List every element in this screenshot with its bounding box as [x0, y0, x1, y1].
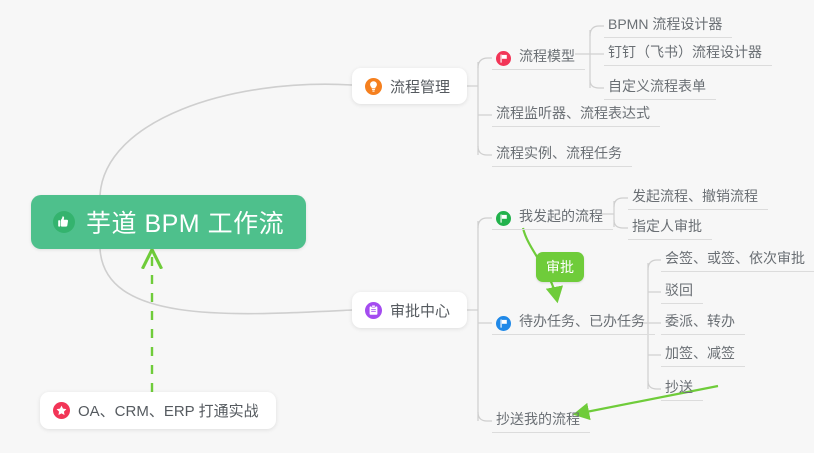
- node-my-started-flows[interactable]: 我发起的流程: [492, 200, 613, 230]
- node-custom-form[interactable]: 自定义流程表单: [604, 70, 716, 100]
- root-node[interactable]: 芋道 BPM 工作流: [31, 195, 306, 249]
- flag-icon: [496, 51, 511, 66]
- node-label-delegate-transfer: 委派、转办: [665, 311, 735, 331]
- footer-node-label: OA、CRM、ERP 打通实战: [78, 400, 259, 421]
- node-label-todo-done-tasks: 待办任务、已办任务: [519, 311, 645, 331]
- node-label-my-started-flows: 我发起的流程: [519, 206, 603, 226]
- connector-root-to-process-management: [100, 84, 352, 195]
- node-label-process-instance: 流程实例、流程任务: [496, 143, 622, 163]
- node-assignee-approval[interactable]: 指定人审批: [628, 210, 712, 240]
- connector-tasks-to-countersign: [648, 260, 661, 270]
- branch-label-approval-center: 审批中心: [390, 300, 450, 321]
- node-start-cancel-flow[interactable]: 发起流程、撤销流程: [628, 180, 768, 210]
- connector-tasks-to-cc: [648, 381, 661, 389]
- footer-node-integration[interactable]: OA、CRM、ERP 打通实战: [40, 392, 276, 429]
- node-label-custom-form: 自定义流程表单: [608, 76, 706, 96]
- connector-pm-to-instance: [478, 146, 492, 155]
- node-cc-my-flows[interactable]: 抄送我的流程: [492, 403, 590, 433]
- connector-mystarted-to-start: [614, 198, 628, 207]
- node-reject[interactable]: 驳回: [661, 274, 703, 304]
- node-add-remove-sign[interactable]: 加签、减签: [661, 337, 745, 367]
- connector-mystarted-to-assign: [614, 220, 628, 228]
- node-delegate-transfer[interactable]: 委派、转办: [661, 305, 745, 335]
- connector-model-to-customform: [590, 80, 604, 88]
- node-countersign[interactable]: 会签、或签、依次审批: [661, 242, 814, 272]
- connector-ac-to-mystarted: [478, 218, 492, 228]
- node-label-dingtalk-designer: 钉钉（飞书）流程设计器: [608, 42, 762, 62]
- node-label-add-remove-sign: 加签、减签: [665, 343, 735, 363]
- node-process-listener[interactable]: 流程监听器、流程表达式: [492, 97, 660, 127]
- flag-icon: [496, 316, 511, 331]
- connector-pm-to-model: [478, 58, 492, 68]
- lightbulb-icon: [365, 78, 382, 95]
- node-bpmn-designer[interactable]: BPMN 流程设计器: [604, 8, 732, 38]
- node-label-countersign: 会签、或签、依次审批: [665, 248, 805, 268]
- node-todo-done-tasks[interactable]: 待办任务、已办任务: [492, 305, 655, 335]
- approval-badge[interactable]: 审批: [536, 252, 584, 282]
- node-label-start-cancel-flow: 发起流程、撤销流程: [632, 186, 758, 206]
- node-process-model[interactable]: 流程模型: [492, 40, 585, 70]
- branch-label-process-management: 流程管理: [390, 76, 450, 97]
- branch-node-approval-center[interactable]: 审批中心: [352, 292, 467, 328]
- connector-model-to-bpmn: [590, 26, 604, 36]
- node-label-cc-my-flows: 抄送我的流程: [496, 409, 580, 429]
- node-label-reject: 驳回: [665, 280, 693, 300]
- mindmap-canvas: 芋道 BPM 工作流 流程管理 审批中心: [0, 0, 814, 453]
- root-label: 芋道 BPM 工作流: [86, 204, 284, 240]
- node-label-process-listener: 流程监听器、流程表达式: [496, 103, 650, 123]
- node-dingtalk-designer[interactable]: 钉钉（飞书）流程设计器: [604, 36, 772, 66]
- node-label-assignee-approval: 指定人审批: [632, 216, 702, 236]
- node-process-instance[interactable]: 流程实例、流程任务: [492, 137, 632, 167]
- branch-node-process-management[interactable]: 流程管理: [352, 68, 467, 104]
- flag-icon: [496, 211, 511, 226]
- connector-root-to-approval-center: [100, 249, 352, 314]
- connector-ac-to-ccflow: [478, 412, 492, 421]
- star-icon: [53, 402, 70, 419]
- thumbs-up-icon: [53, 211, 75, 233]
- node-label-carbon-copy: 抄送: [665, 377, 693, 397]
- node-label-process-model: 流程模型: [519, 46, 575, 66]
- node-label-bpmn-designer: BPMN 流程设计器: [608, 14, 722, 34]
- node-carbon-copy[interactable]: 抄送: [661, 371, 703, 401]
- approval-badge-label: 审批: [546, 257, 574, 277]
- clipboard-icon: [365, 302, 382, 319]
